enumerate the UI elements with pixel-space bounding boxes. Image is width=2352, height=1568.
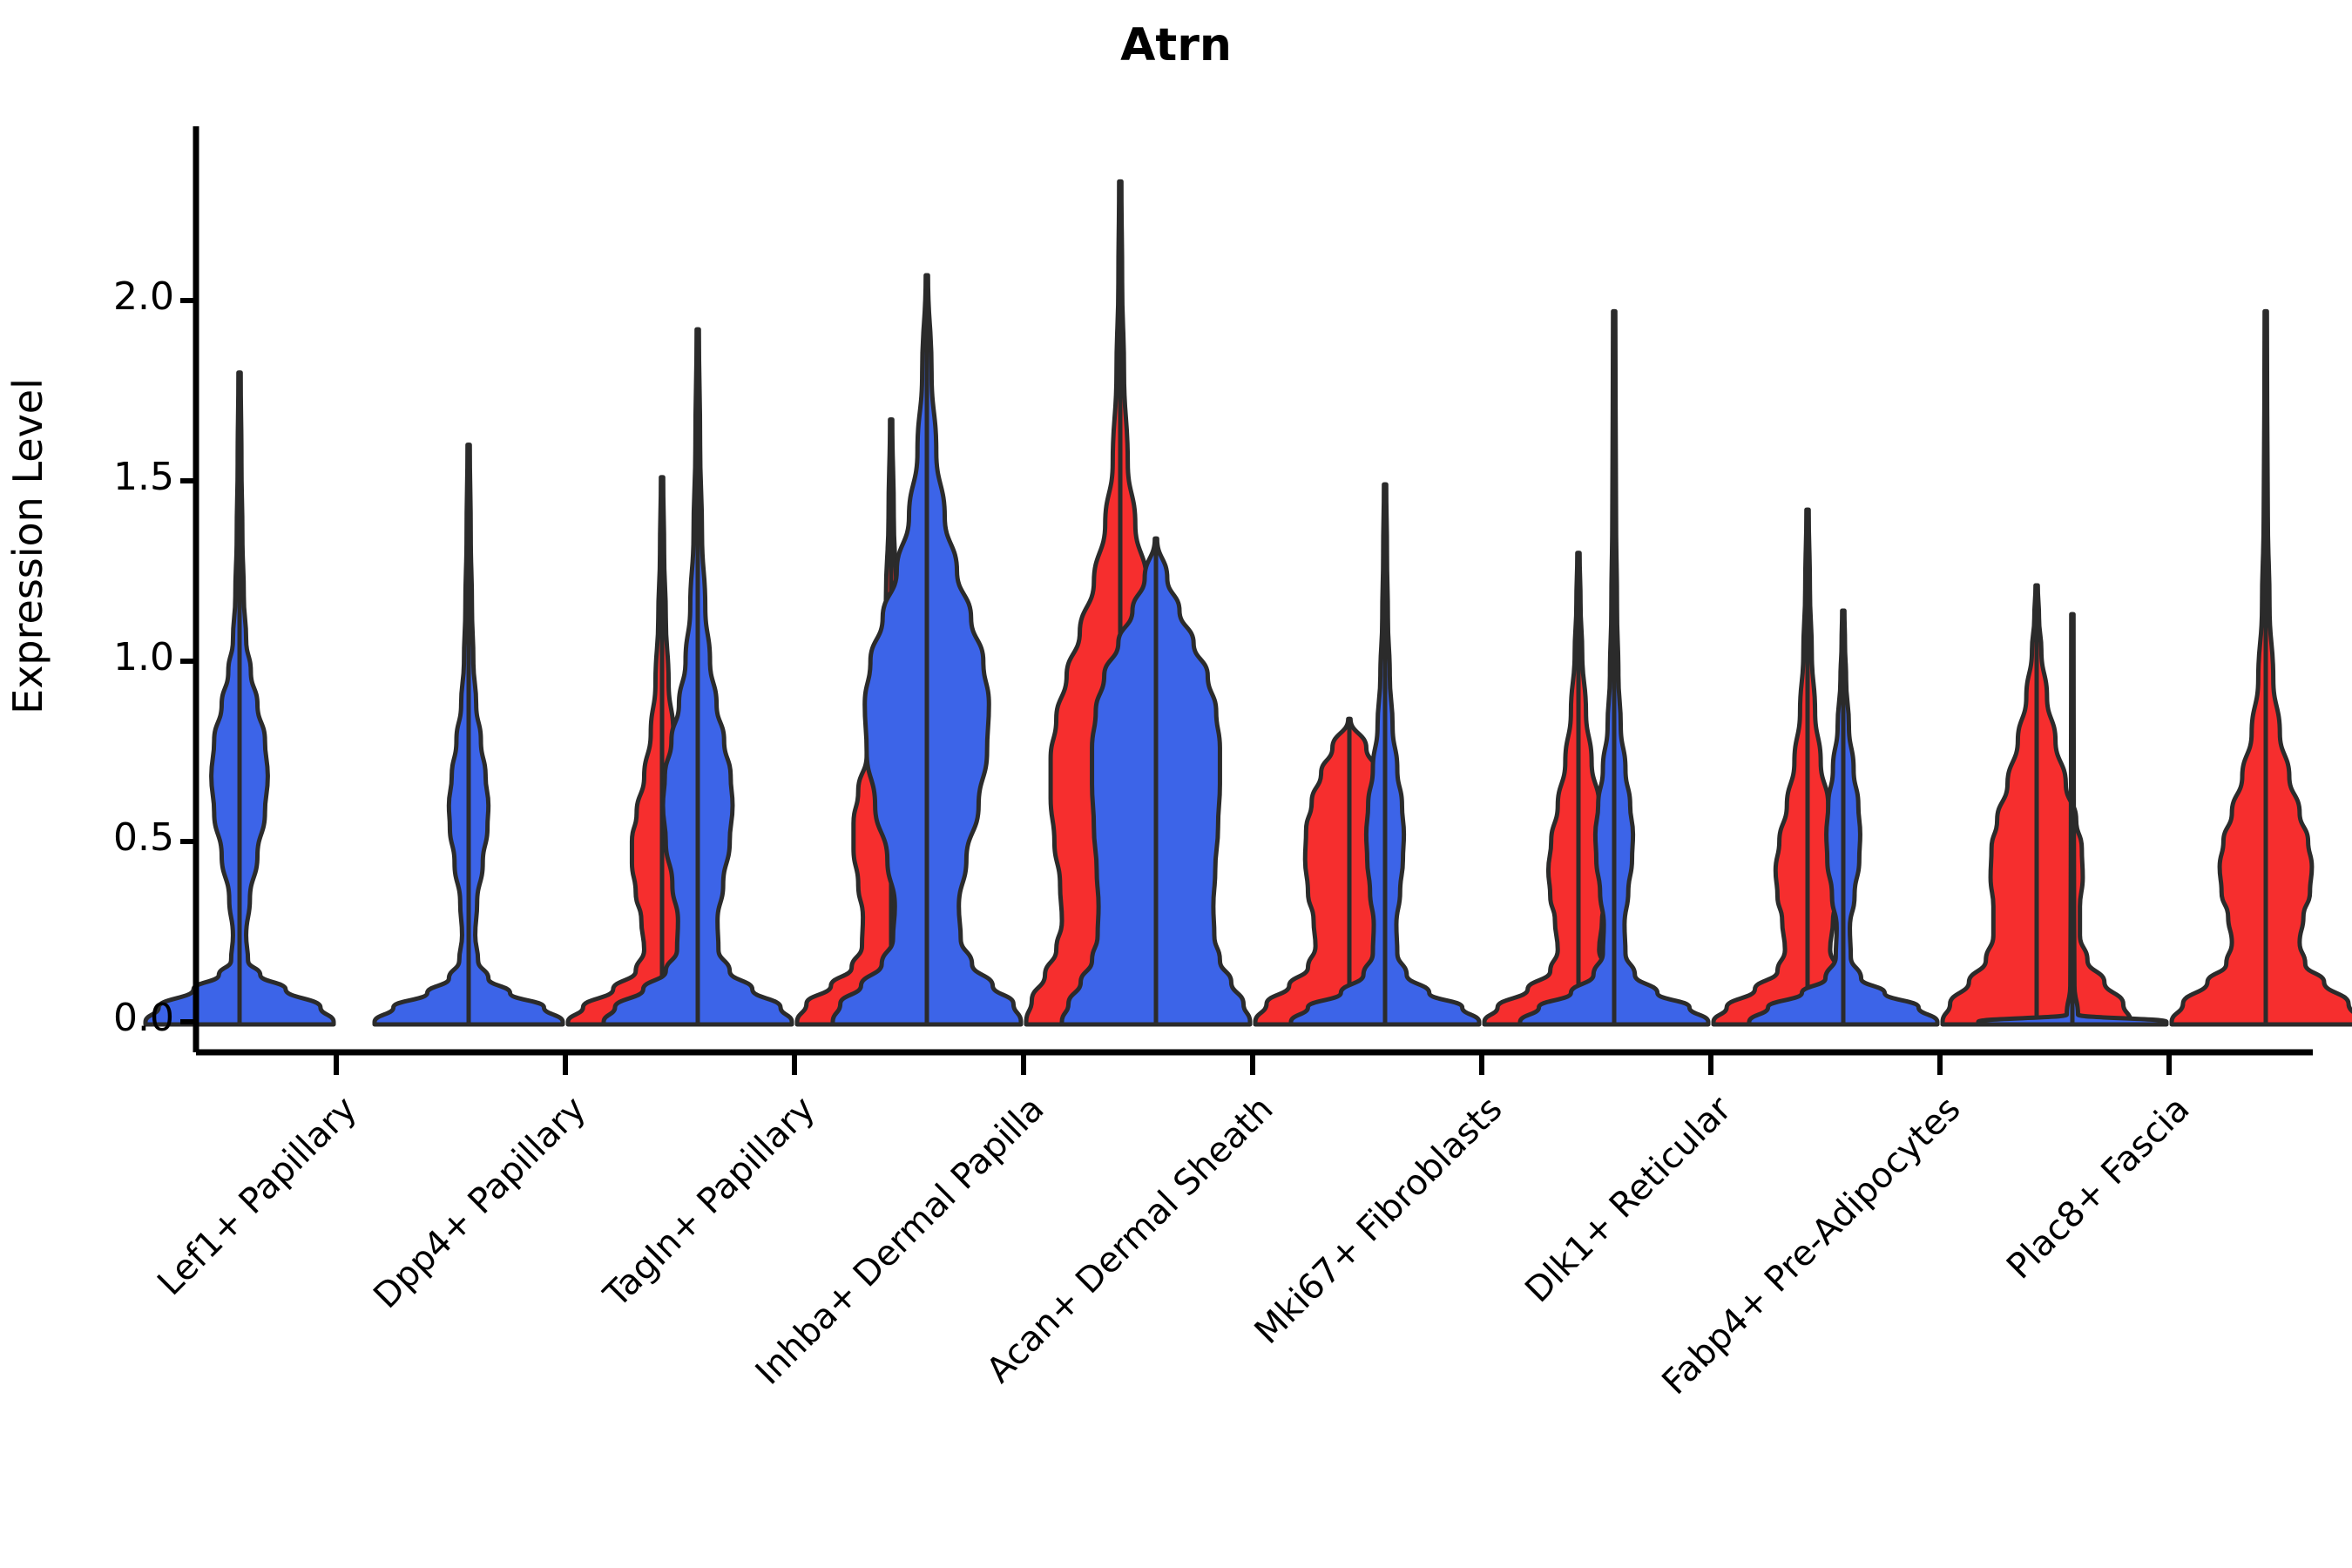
- violin-shape-group-a[interactable]: [698, 329, 792, 1024]
- violin-shape-group-b[interactable]: [1484, 553, 1578, 1024]
- violin-shape-group-b[interactable]: [1713, 510, 1808, 1024]
- violin-shape-group-a[interactable]: [240, 373, 334, 1024]
- violin-plot-figure: Atrn Expression Level 0.00.51.01.52.0 Le…: [0, 0, 2352, 1568]
- violin-shape-group-a[interactable]: [1614, 311, 1708, 1024]
- violin-shape-group-b[interactable]: [2172, 311, 2266, 1024]
- violin-shape-group-a[interactable]: [1385, 484, 1479, 1024]
- violin-shape-group-b[interactable]: [2266, 311, 2352, 1024]
- violin-shape-group-b[interactable]: [1255, 719, 1349, 1024]
- violin-shape-group-b[interactable]: [2037, 585, 2131, 1024]
- y-tick-label: 0.5: [17, 815, 174, 860]
- y-tick-label: 2.0: [17, 274, 174, 319]
- violin-shape-group-b[interactable]: [568, 477, 662, 1024]
- y-tick-label: 1.5: [17, 455, 174, 499]
- violin-shape-group-a[interactable]: [375, 445, 469, 1024]
- y-tick-label: 1.0: [17, 635, 174, 679]
- violin-shape-group-a[interactable]: [1843, 611, 1937, 1024]
- violin-shape-group-b[interactable]: [1943, 585, 2037, 1024]
- y-tick-label: 0.0: [17, 996, 174, 1040]
- violin-shape-group-a[interactable]: [927, 275, 1021, 1024]
- violins-layer: [145, 181, 2352, 1024]
- violin-shape-group-a[interactable]: [1156, 538, 1250, 1024]
- violin-shape-group-a[interactable]: [469, 445, 563, 1024]
